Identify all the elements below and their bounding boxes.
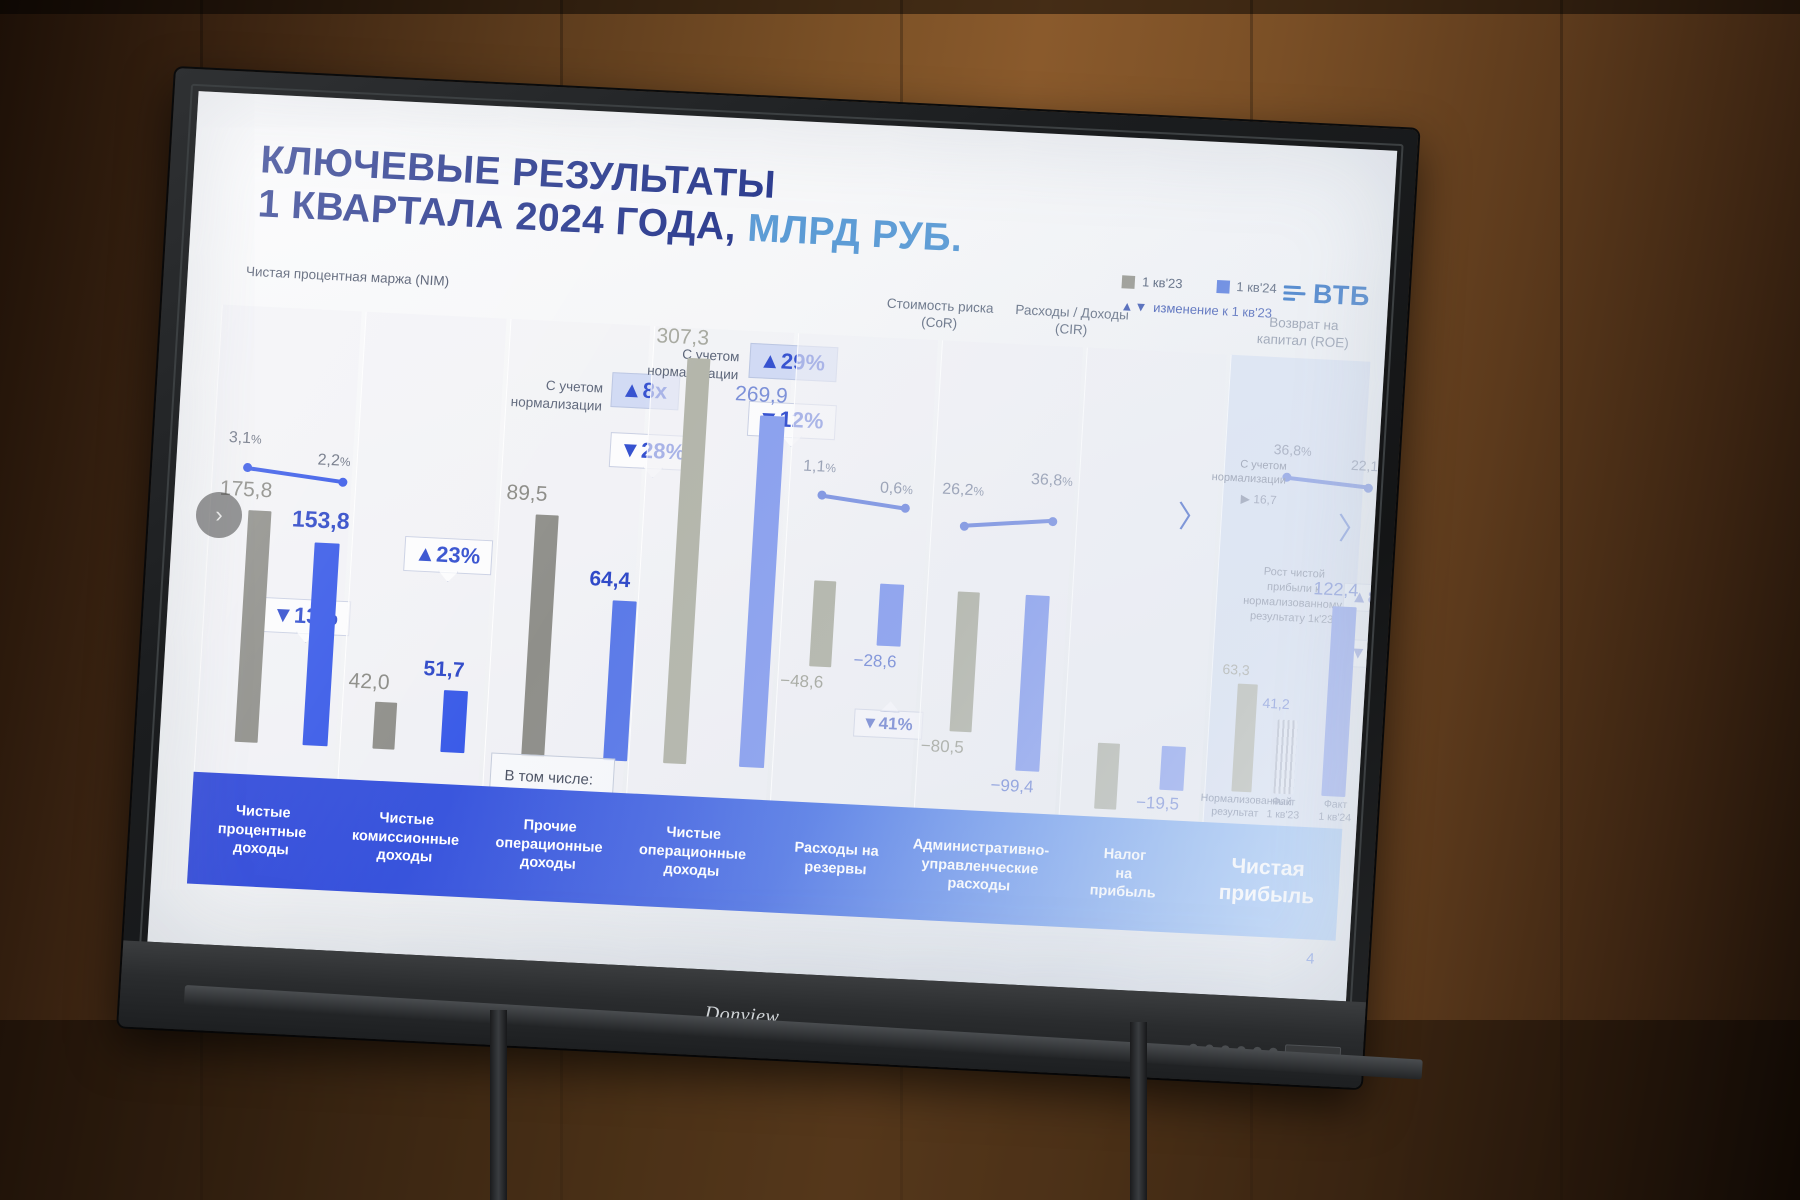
presentation-slide: КЛЮЧЕВЫЕ РЕЗУЛЬТАТЫ 1 КВАРТАЛА 2024 ГОДА… — [147, 91, 1397, 1001]
bar-net-fee-2023 — [373, 702, 398, 750]
cir-trend-line — [958, 511, 1061, 538]
nav-previous-button[interactable]: › — [196, 492, 242, 538]
caption-fact-2023: Факт1 кв'23 — [1259, 795, 1307, 823]
tv-stand-column-right — [1130, 1022, 1147, 1200]
legend-item-q1-2024: 1 кв'24 — [1216, 276, 1278, 299]
value-net-op-2023: 307,3 — [656, 324, 710, 351]
vtb-logo-text: ВТБ — [1312, 279, 1371, 313]
value-net-profit-fact-2023: 41,2 — [1262, 695, 1290, 712]
value-net-fee-2024: 51,7 — [423, 657, 465, 683]
ribbon-label-provisions: Расходы нарезервы — [763, 837, 909, 882]
nim-value-2024: 2,2% — [317, 452, 351, 472]
badge-provisions-change: ▼41% — [853, 709, 923, 740]
ribbon-label-admin: Административно-управленческиерасходы — [906, 835, 1054, 899]
ribbon-label-net-interest: Чистыепроцентныедоходы — [189, 799, 336, 863]
tv-stand-column-left — [490, 1010, 507, 1200]
roe-value-2023: 36,8% — [1273, 441, 1312, 459]
ribbon-label-other-op: Прочиеоперационныедоходы — [476, 814, 623, 878]
value-net-op-2024: 269,9 — [734, 382, 788, 409]
bar-net-profit-fact-2023 — [1273, 720, 1297, 795]
tv-screen[interactable]: КЛЮЧЕВЫЕ РЕЗУЛЬТАТЫ 1 КВАРТАЛА 2024 ГОДА… — [147, 91, 1397, 1001]
group-header-cir: Расходы / Доходы(CIR) — [1005, 300, 1139, 342]
page-number: 4 — [1306, 950, 1315, 967]
value-provisions-2023: −48,6 — [780, 671, 824, 693]
value-net-profit-normalized: 63,3 — [1222, 661, 1250, 678]
bar-tax-2024 — [1159, 746, 1186, 791]
bar-net-op-2023 — [663, 358, 710, 764]
roe-value-2024: 22,1% — [1351, 457, 1390, 475]
vtb-logo: ВТБ — [1282, 277, 1371, 312]
group-header-nim: Чистая процентная маржа (NIM) — [223, 261, 471, 292]
legend-swatch-grey — [1122, 275, 1136, 289]
note-normalization-roe: С учетомнормализации — [1210, 456, 1288, 488]
bar-tax-2023 — [1094, 743, 1120, 810]
bar-provisions-2024 — [877, 584, 905, 647]
bar-net-profit-fact-2024 — [1321, 606, 1356, 797]
bar-other-op-2023 — [521, 514, 559, 757]
nav-next-chevron-icon[interactable]: 〉 — [1178, 492, 1208, 536]
legend-item-q1-2023: 1 кв'23 — [1121, 271, 1183, 294]
tv-bezel: КЛЮЧЕВЫЕ РЕЗУЛЬТАТЫ 1 КВАРТАЛА 2024 ГОДА… — [118, 68, 1418, 1088]
nav-next-chevron-secondary-icon[interactable]: 〉 — [1338, 504, 1368, 548]
cor-value-2024: 0,6% — [879, 480, 913, 500]
bar-net-fee-2024 — [441, 690, 469, 753]
legend-label-q1-2024: 1 кв'24 — [1236, 277, 1278, 299]
note-normalization-other-op: С учетомнормализации — [498, 374, 604, 414]
group-header-cor: Стоимость риска(CoR) — [873, 293, 1007, 335]
value-net-fee-2023: 42,0 — [348, 669, 390, 695]
value-admin-2023: −80,5 — [920, 736, 964, 758]
cir-value-2024: 36,8% — [1030, 471, 1073, 491]
value-other-op-2024: 64,4 — [589, 567, 631, 593]
ribbon-label-tax: Налогнаприбыль — [1050, 842, 1197, 906]
value-other-op-2023: 89,5 — [506, 481, 548, 507]
nim-value-2023: 3,1% — [228, 429, 262, 449]
cor-value-2023: 1,1% — [803, 458, 837, 478]
legend-label-q1-2023: 1 кв'23 — [1141, 272, 1183, 294]
ribbon-label-net-op: Чистыеоперационныедоходы — [619, 821, 766, 885]
badge-net-fee-change: ▲23% — [403, 536, 493, 575]
bar-admin-2023 — [950, 592, 980, 733]
interactive-display: КЛЮЧЕВЫЕ РЕЗУЛЬТАТЫ 1 КВАРТАЛА 2024 ГОДА… — [118, 68, 1418, 1088]
legend-swatch-blue — [1216, 280, 1230, 294]
value-net-interest-2024: 153,8 — [291, 505, 350, 535]
badge-net-interest-change: ▼13% — [261, 597, 351, 636]
cir-value-2023: 26,2% — [942, 481, 985, 501]
vtb-bars-icon — [1283, 285, 1306, 301]
value-provisions-2024: −28,6 — [853, 650, 897, 672]
roe-extra-value: ▶ 16,7 — [1240, 491, 1277, 507]
ribbon-label-net-profit: Чистая прибыль — [1194, 850, 1341, 912]
value-net-profit-fact-2024: 122,4 — [1313, 578, 1359, 601]
bar-provisions-2023 — [809, 580, 836, 667]
page-title: КЛЮЧЕВЫЕ РЕЗУЛЬТАТЫ 1 КВАРТАЛА 2024 ГОДА… — [257, 138, 967, 260]
value-tax-2024: −19,5 — [1135, 793, 1179, 815]
bar-net-profit-normalized-2023 — [1231, 684, 1257, 793]
bar-admin-2024 — [1015, 595, 1050, 772]
group-header-roe: Возврат накапитал (ROE) — [1234, 311, 1374, 354]
caption-fact-2024: Факт1 кв'24 — [1311, 797, 1359, 825]
bar-net-interest-2024 — [302, 542, 339, 746]
value-admin-2024: −99,4 — [990, 775, 1034, 797]
ribbon-label-net-fee: Чистыекомиссионныедоходы — [332, 807, 479, 871]
